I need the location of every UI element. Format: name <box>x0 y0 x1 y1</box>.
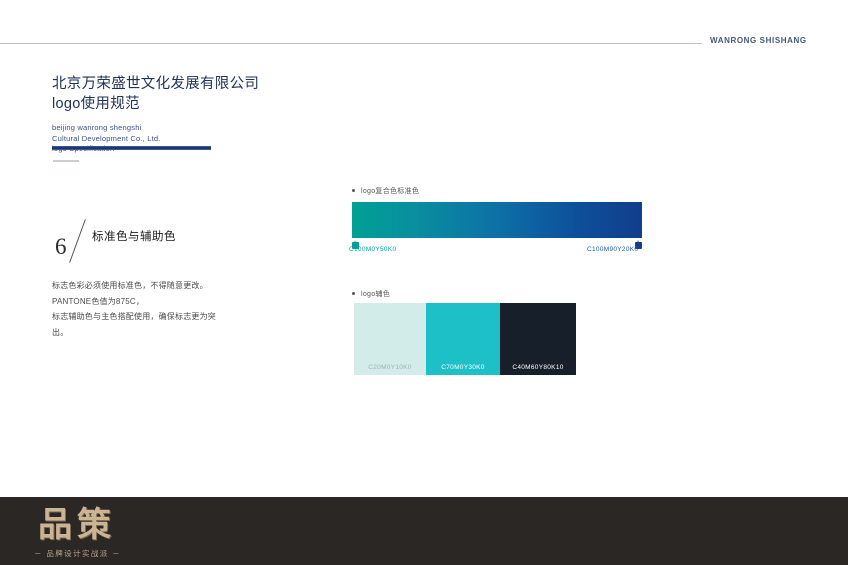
title-block: 北京万荣盛世文化发展有限公司 logo使用规范 beijing wanrong … <box>52 74 332 155</box>
swatch-code-label: C40M60Y80K10 <box>500 364 576 371</box>
auxiliary-block-label: logo辅色 <box>352 289 390 299</box>
body-line-3: 标志辅助色与主色搭配使用，确保标志更为突 <box>52 309 228 325</box>
page-canvas: WANRONG SHISHANG 北京万荣盛世文化发展有限公司 logo使用规范… <box>0 0 848 565</box>
gradient-block-label: logo复合色标准色 <box>352 186 419 196</box>
color-swatch: C40M60Y80K10 <box>500 303 576 375</box>
section-title-text: 标准色与辅助色 <box>92 228 176 244</box>
gradient-label-text: logo复合色标准色 <box>361 188 419 195</box>
gradient-swatch-bar <box>352 202 642 238</box>
section-body-text: 标志色彩必须使用标准色，不得随意更改。 PANTONE色值为875C， 标志辅助… <box>52 278 228 340</box>
title-sub-divider <box>53 160 79 162</box>
title-en-line-2: Cultural Development Co., Ltd. <box>52 134 332 145</box>
body-line-2: PANTONE色值为875C， <box>52 294 228 310</box>
footer-tagline-text: － 品牌设计实战派 － <box>34 548 121 559</box>
header-divider <box>0 43 702 44</box>
title-cn-line-2: logo使用规范 <box>52 94 332 114</box>
section-number: 6 <box>55 235 67 258</box>
section-heading: 6 标准色与辅助色 <box>55 218 285 264</box>
bullet-dot-icon <box>352 292 355 295</box>
page-header: WANRONG SHISHANG <box>0 34 848 54</box>
page-footer: 品策 <box>0 497 848 565</box>
title-accent-bar <box>52 146 211 150</box>
swatch-code-label: C70M0Y30K0 <box>426 364 500 371</box>
color-swatch: C20M0Y10K0 <box>354 303 426 375</box>
auxiliary-label-text: logo辅色 <box>361 291 390 298</box>
title-cn-line-1: 北京万荣盛世文化发展有限公司 <box>52 74 332 94</box>
title-en-line-1: beijing wanrong shengshi <box>52 123 332 134</box>
auxiliary-swatch-group: C20M0Y10K0 C70M0Y30K0 C40M60Y80K10 <box>354 303 576 375</box>
header-brand-text: WANRONG SHISHANG <box>710 36 807 45</box>
body-line-1: 标志色彩必须使用标准色，不得随意更改。 <box>52 278 228 294</box>
footer-logo-text: 品策 <box>38 505 116 545</box>
gradient-start-code: C100M0Y50K0 <box>349 246 396 253</box>
body-line-4: 出。 <box>52 325 228 341</box>
color-swatch: C70M0Y30K0 <box>426 303 500 375</box>
section-slash-divider <box>69 219 86 263</box>
bullet-dot-icon <box>352 189 355 192</box>
swatch-code-label: C20M0Y10K0 <box>354 364 426 371</box>
gradient-end-code: C100M90Y20K0 <box>587 246 638 253</box>
